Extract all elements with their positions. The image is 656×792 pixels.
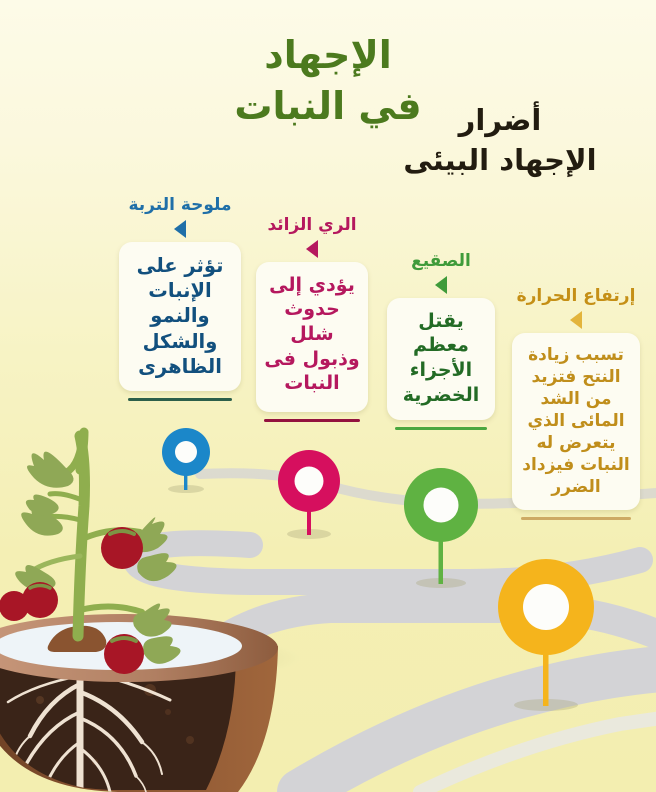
- map-pin-soil-salinity: [162, 428, 210, 493]
- stressor-label-soil-salinity: ملوحة التربة: [119, 196, 241, 215]
- pot-with-roots: [0, 614, 278, 792]
- stressor-label-frost: الصقيع: [387, 252, 495, 271]
- stressor-body-high-temperature: تسبب زيادة النتح فتزيد من الشد المائى ال…: [512, 333, 640, 511]
- infographic-canvas: الإجهاد في النبات أضرار الإجهاد البيئى م…: [0, 0, 656, 792]
- stressor-body-frost: يقتل معظم الأجزاء الخضرية: [387, 298, 495, 420]
- arrow-left-icon: [174, 220, 186, 238]
- subtitle-line-1: أضرار: [370, 100, 630, 140]
- page-title-line-1: الإجهاد: [0, 30, 656, 81]
- stressor-card-over-irrigation[interactable]: الري الزائد يؤدي إلى حدوث شلل وذبول فى ا…: [256, 216, 368, 422]
- stressor-body-soil-salinity: تؤثر على الإنبات والنمو والشكل الظاهرى: [119, 242, 241, 392]
- stressor-rule-over-irrigation: [264, 419, 360, 422]
- stressor-card-high-temperature[interactable]: إرتفاع الحرارة تسبب زيادة النتح فتزيد من…: [512, 287, 640, 520]
- stressor-rule-soil-salinity: [128, 398, 232, 401]
- subtitle: أضرار الإجهاد البيئى: [370, 100, 630, 180]
- stressor-body-over-irrigation: يؤدي إلى حدوث شلل وذبول فى النبات: [256, 262, 368, 412]
- stressor-label-high-temperature: إرتفاع الحرارة: [512, 287, 640, 306]
- stressor-label-over-irrigation: الري الزائد: [256, 216, 368, 235]
- map-pin-over-irrigation: [278, 450, 340, 539]
- arrow-left-icon: [570, 311, 582, 329]
- stressor-card-soil-salinity[interactable]: ملوحة التربة تؤثر على الإنبات والنمو وال…: [119, 196, 241, 401]
- stressor-rule-frost: [395, 427, 487, 430]
- arrow-left-icon: [306, 240, 318, 258]
- stressor-card-frost[interactable]: الصقيع يقتل معظم الأجزاء الخضرية: [387, 252, 495, 430]
- arrow-left-icon: [435, 276, 447, 294]
- stressor-rule-high-temperature: [521, 517, 631, 520]
- subtitle-line-2: الإجهاد البيئى: [370, 140, 630, 180]
